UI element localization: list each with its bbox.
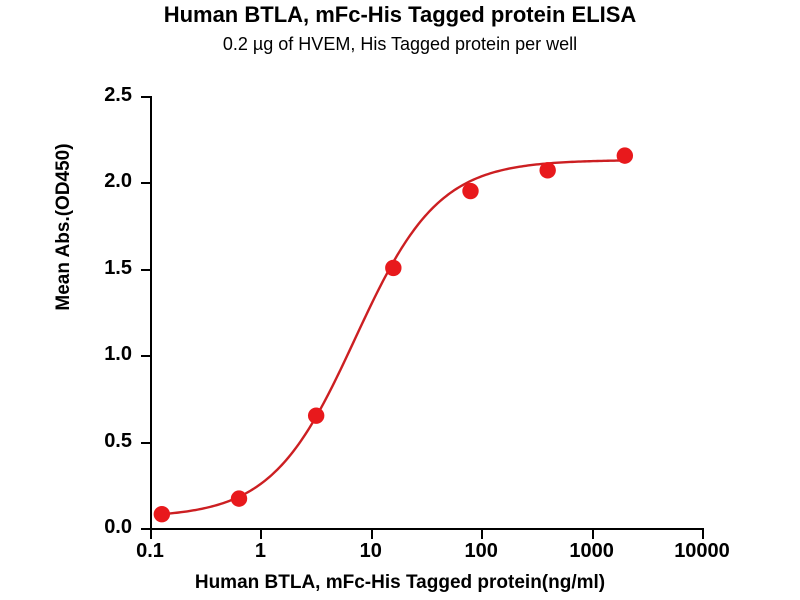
data-point	[308, 407, 324, 423]
data-point	[539, 162, 555, 178]
data-points	[154, 147, 633, 522]
data-point	[231, 490, 247, 506]
data-point	[462, 183, 478, 199]
data-point	[385, 260, 401, 276]
data-layer	[0, 0, 800, 600]
chart-container: Human BTLA, mFc-His Tagged protein ELISA…	[0, 0, 800, 600]
data-point	[617, 147, 633, 163]
data-point	[154, 506, 170, 522]
fit-curve	[162, 160, 625, 514]
